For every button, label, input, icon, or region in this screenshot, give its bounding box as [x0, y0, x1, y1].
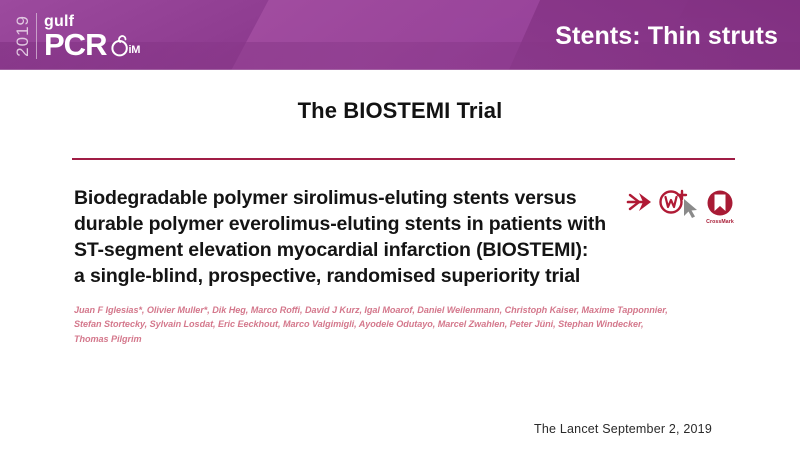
logo-pcr-text: PCR [44, 31, 106, 58]
gulf-pcr-logo: 2019 gulf PCR iM [14, 8, 140, 64]
divider-rule [72, 158, 735, 160]
article-block: Biodegradable polymer sirolimus-eluting … [74, 186, 619, 347]
session-title: Stents: Thin struts [555, 22, 778, 51]
logo-circle-icon [109, 34, 131, 58]
author-list: Juan F Iglesias*, Olivier Muller*, Dik H… [74, 303, 619, 347]
lancet-arrow-icon [628, 193, 651, 211]
cursor-pointer-icon [684, 199, 697, 218]
author-line: Juan F Iglesias*, Olivier Muller*, Dik H… [74, 303, 619, 318]
author-line: Thomas Pilgrim [74, 332, 619, 347]
logo-wordmark: gulf PCR iM [44, 14, 140, 58]
header-banner: 2019 gulf PCR iM Stents: Thin struts [0, 0, 800, 70]
slide-title: The BIOSTEMI Trial [0, 98, 800, 124]
article-title-line: Biodegradable polymer sirolimus-eluting … [74, 186, 619, 212]
article-title: Biodegradable polymer sirolimus-eluting … [74, 186, 619, 290]
w-plus-icon [661, 191, 687, 213]
journal-icon-group: CrossMark [626, 186, 746, 230]
article-title-line: ST-segment elevation myocardial infarcti… [74, 238, 619, 264]
article-title-line: durable polymer everolimus-eluting stent… [74, 212, 619, 238]
logo-main-row: PCR iM [44, 31, 140, 58]
crossmark-icon [708, 191, 733, 216]
crossmark-label: CrossMark [694, 219, 746, 225]
footer-citation: The Lancet September 2, 2019 [534, 422, 712, 436]
logo-divider [36, 13, 37, 59]
header-underline [0, 69, 800, 70]
logo-year: 2019 [14, 15, 31, 57]
article-title-line: a single-blind, prospective, randomised … [74, 264, 619, 290]
author-line: Stefan Stortecky, Sylvain Losdat, Eric E… [74, 317, 619, 332]
